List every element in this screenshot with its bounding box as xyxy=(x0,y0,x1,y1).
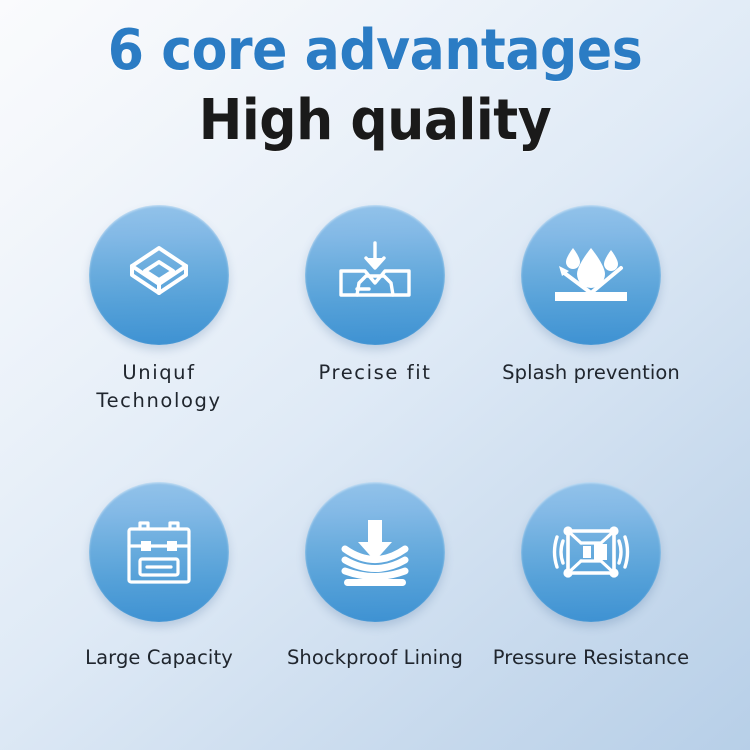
press-fit-mold-icon xyxy=(335,239,415,311)
water-repellent-droplet-icon xyxy=(549,240,633,310)
bag-capacity-icon xyxy=(123,516,195,588)
feature-label: Pressure Resistance xyxy=(493,644,689,672)
feature-label: Shockproof Lining xyxy=(287,644,463,672)
feature-label: Large Capacity xyxy=(85,644,233,672)
feature-row-bottom: Large Capacity xyxy=(0,482,750,672)
icon-circle xyxy=(521,205,661,345)
feature-item-pressure-resistance[interactable]: Pressure Resistance xyxy=(483,482,699,672)
icon-circle xyxy=(305,205,445,345)
pressure-frame-icon xyxy=(548,521,634,583)
feature-item-large-capacity[interactable]: Large Capacity xyxy=(51,482,267,672)
feature-poster: 6 core advantages High quality xyxy=(0,0,750,750)
feature-item-splash-prevention[interactable]: Splash prevention xyxy=(483,205,699,387)
feature-label: Precise fit xyxy=(318,359,431,387)
feature-item-shockproof-lining[interactable]: Shockproof Lining xyxy=(267,482,483,672)
icon-circle xyxy=(305,482,445,622)
icon-circle xyxy=(521,482,661,622)
shock-absorb-arrow-icon xyxy=(336,516,414,588)
feature-label: Splash prevention xyxy=(502,359,680,387)
feature-grid: Uniquf Technology Precise fit xyxy=(0,205,750,672)
poster-headings: 6 core advantages High quality xyxy=(0,18,750,154)
page-subtitle: High quality xyxy=(26,88,724,154)
stacked-layers-icon xyxy=(122,238,196,312)
feature-label: Uniquf Technology xyxy=(96,359,221,414)
feature-item-precise-fit[interactable]: Precise fit xyxy=(267,205,483,387)
page-title: 6 core advantages xyxy=(26,18,724,84)
icon-circle xyxy=(89,205,229,345)
icon-circle xyxy=(89,482,229,622)
feature-row-top: Uniquf Technology Precise fit xyxy=(0,205,750,414)
feature-item-uniquf-technology[interactable]: Uniquf Technology xyxy=(51,205,267,414)
